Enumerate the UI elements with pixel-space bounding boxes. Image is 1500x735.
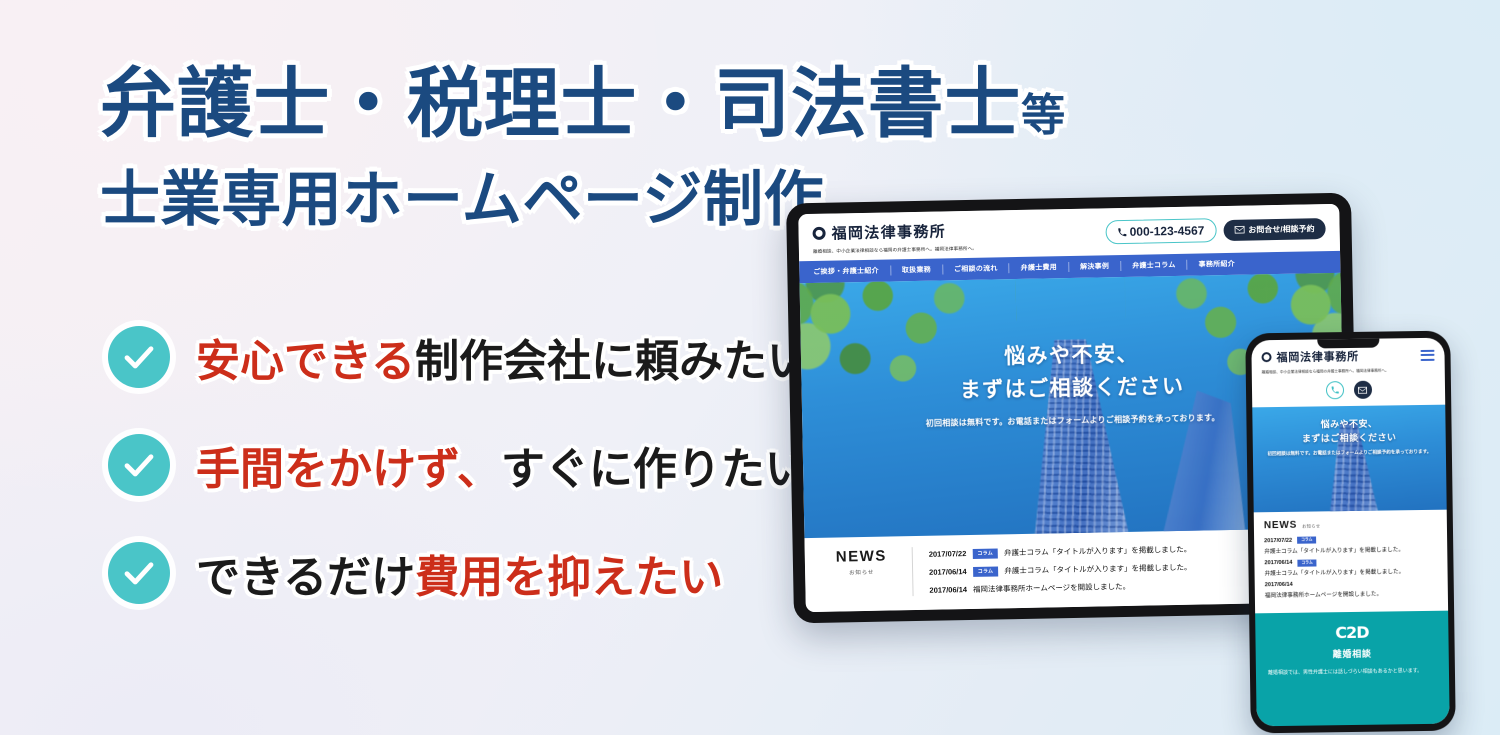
- phone-news-item-date: 2017/07/22: [1264, 537, 1292, 543]
- phone-hero-subtext: 初回相談は無料です。お電話またはフォームよりご相談予約を承っております。: [1253, 448, 1446, 458]
- site-logo-name: 福岡法律事務所: [831, 220, 946, 243]
- phone-news-item[interactable]: 2017/06/14 コラム 弁護士コラム「タイトルが入ります」を掲載しました。: [1264, 557, 1437, 577]
- check-icon: [108, 434, 170, 496]
- news-item-title: 弁護士コラム「タイトルが入ります」を掲載しました。: [1004, 562, 1191, 577]
- phone-news-item-title: 弁護士コラム「タイトルが入ります」を掲載しました。: [1265, 567, 1438, 577]
- phone-section-body: 離婚相談では、男性弁護士には話しづらい相談もあるかと思います。: [1268, 666, 1437, 676]
- phone-number-text: 000-123-4567: [1130, 223, 1205, 238]
- benefits-checklist: 安心できる制作会社に頼みたい 手間をかけず、すぐに作りたい できるだけ費用を抑え…: [108, 318, 811, 642]
- checklist-item-label: 手間をかけず、すぐに作りたい: [196, 433, 809, 497]
- phone-news-item-meta: 2017/07/22 コラム: [1264, 535, 1437, 544]
- phone-section-title: 離婚相談: [1268, 645, 1437, 660]
- checklist-item: 安心できる制作会社に頼みたい: [108, 318, 811, 396]
- checklist-item-label: 安心できる制作会社に頼みたい: [196, 325, 811, 389]
- phone-logo-row: 福岡法律事務所: [1261, 347, 1434, 365]
- phone-notch: [1317, 339, 1379, 349]
- phone-news-heading-subtitle: お知らせ: [1302, 523, 1320, 529]
- news-item-date: 2017/06/14: [929, 585, 967, 595]
- checklist-item-emphasis: 費用を抑えたい: [415, 553, 723, 602]
- header-actions: 000-123-4567 お問合せ/相談予約: [1105, 216, 1325, 244]
- phone-news-item-meta: 2017/06/14 コラム: [1264, 557, 1437, 566]
- phone-hero-banner: 悩みや不安、 まずはご相談ください 初回相談は無料です。お電話またはフォームより…: [1252, 405, 1446, 513]
- news-item-title: 弁護士コラム「タイトルが入ります」を掲載しました。: [1004, 544, 1191, 559]
- nav-item-office[interactable]: 事務所紹介: [1188, 259, 1247, 270]
- phone-site-logo-name: 福岡法律事務所: [1276, 348, 1359, 365]
- news-item-title: 福岡法律事務所ホームページを開設しました。: [973, 581, 1130, 595]
- phone-news-item-tag: コラム: [1297, 536, 1316, 543]
- nav-item-consultation-flow[interactable]: ご相談の流れ: [943, 263, 1010, 274]
- check-icon: [108, 326, 170, 388]
- phone-divorce-consultation-section: C2D 離婚相談 離婚相談では、男性弁護士には話しづらい相談もあるかと思います。: [1255, 610, 1450, 726]
- nav-item-cases[interactable]: 解決事例: [1069, 261, 1121, 272]
- checklist-item-rest: すぐに作りたい: [501, 445, 809, 494]
- phone-news-item[interactable]: 2017/07/22 コラム 弁護士コラム「タイトルが入ります」を掲載しました。: [1264, 535, 1437, 555]
- phone-hero-copy: 悩みや不安、 まずはご相談ください 初回相談は無料です。お電話またはフォームより…: [1252, 415, 1446, 458]
- nav-item-fees[interactable]: 弁護士費用: [1010, 262, 1070, 273]
- contact-button[interactable]: お問合せ/相談予約: [1223, 218, 1326, 241]
- phone-news-item-date: 2017/06/14: [1265, 582, 1293, 588]
- phone-news-item-meta: 2017/06/14: [1265, 580, 1438, 588]
- checklist-item-emphasis: 安心できる: [196, 337, 415, 386]
- phone-site-tagline: 離婚相談、中小企業法律相談なら福岡の弁護士事務所へ。福岡法律事務所へ。: [1262, 368, 1435, 375]
- phone-mail-icon[interactable]: [1353, 381, 1371, 399]
- headline-line-1: 弁護士・税理士・司法書士等: [100, 62, 1100, 159]
- phone-news-item-title: 福岡法律事務所ホームページを開設しました。: [1265, 588, 1438, 598]
- phone-news-heading: NEWS お知らせ: [1264, 518, 1437, 531]
- headline-line-1-suffix: 等: [1021, 91, 1066, 140]
- checklist-item-emphasis: 手間をかけず、: [196, 445, 501, 494]
- site-branding: 福岡法律事務所 離婚相談、中小企業法律相談なら福岡の弁護士事務所へ。福岡法律事務…: [812, 220, 977, 255]
- phone-news-item-title: 弁護士コラム「タイトルが入ります」を掲載しました。: [1264, 544, 1437, 554]
- phone-news-section: NEWS お知らせ 2017/07/22 コラム 弁護士コラム「タイトルが入りま…: [1254, 510, 1448, 613]
- check-icon: [108, 542, 170, 604]
- phone-site-logo[interactable]: 福岡法律事務所: [1261, 348, 1359, 365]
- news-item-date: 2017/07/22: [929, 549, 967, 559]
- news-heading: NEWS お知らせ: [821, 547, 914, 598]
- phone-hero-line-1: 悩みや不安、: [1252, 415, 1445, 431]
- nav-item-column[interactable]: 弁護士コラム: [1121, 260, 1188, 271]
- nav-item-services[interactable]: 取扱業務: [891, 264, 943, 275]
- divorce-rings-icon: C2D: [1267, 621, 1436, 642]
- phone-screen: 福岡法律事務所 離婚相談、中小企業法律相談なら福岡の弁護士事務所へ。福岡法律事務…: [1251, 338, 1449, 727]
- site-tagline: 離婚相談、中小企業法律相談なら福岡の弁護士事務所へ。福岡法律事務所へ。: [813, 246, 977, 255]
- checklist-item: できるだけ費用を抑えたい: [108, 534, 811, 612]
- checklist-item-rest: できるだけ: [196, 553, 415, 602]
- phone-news-item-date: 2017/06/14: [1264, 560, 1292, 566]
- news-heading-title: NEWS: [821, 547, 902, 566]
- phone-news-item-tag: コラム: [1297, 559, 1316, 566]
- logo-ring-icon: [812, 227, 825, 240]
- phone-number-button[interactable]: 000-123-4567: [1105, 218, 1216, 244]
- news-item-date: 2017/06/14: [929, 567, 967, 577]
- nav-item-greeting[interactable]: ご挨拶・弁護士紹介: [813, 265, 891, 276]
- phone-hero-line-2: まずはご相談ください: [1253, 429, 1446, 445]
- phone-mockup: 福岡法律事務所 離婚相談、中小企業法律相談なら福岡の弁護士事務所へ。福岡法律事務…: [1245, 331, 1456, 734]
- news-item-tag: コラム: [973, 566, 999, 576]
- checklist-item-label: できるだけ費用を抑えたい: [196, 541, 723, 605]
- site-logo[interactable]: 福岡法律事務所: [812, 220, 976, 244]
- checklist-item: 手間をかけず、すぐに作りたい: [108, 426, 811, 504]
- phone-icon: [1118, 227, 1127, 236]
- phone-quick-actions: [1262, 380, 1435, 400]
- news-heading-subtitle: お知らせ: [821, 567, 902, 577]
- phone-call-icon[interactable]: [1325, 381, 1343, 399]
- phone-news-heading-title: NEWS: [1264, 520, 1297, 531]
- logo-ring-icon: [1261, 352, 1271, 362]
- checklist-item-rest: 制作会社に頼みたい: [415, 337, 811, 386]
- contact-button-label: お問合せ/相談予約: [1248, 223, 1314, 235]
- news-item-tag: コラム: [972, 548, 998, 558]
- mail-icon: [1234, 226, 1244, 234]
- headline-line-1-main: 弁護士・税理士・司法書士: [100, 62, 1021, 147]
- phone-news-item[interactable]: 2017/06/14 福岡法律事務所ホームページを開設しました。: [1265, 580, 1438, 599]
- phone-site-header: 福岡法律事務所 離婚相談、中小企業法律相談なら福岡の弁護士事務所へ。福岡法律事務…: [1251, 338, 1445, 408]
- hamburger-menu-icon[interactable]: [1420, 349, 1434, 360]
